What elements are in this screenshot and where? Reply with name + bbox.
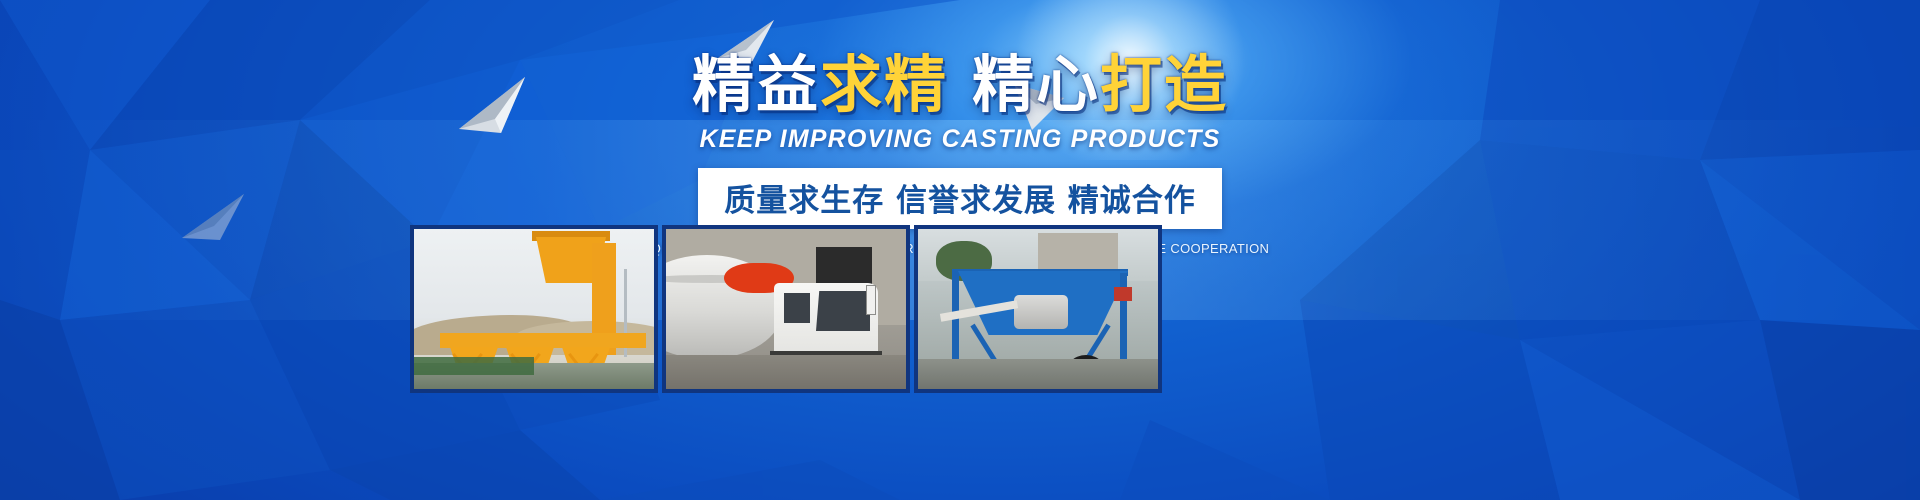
photo-strip xyxy=(410,225,1510,393)
headline: 精益求精精心打造 xyxy=(0,52,1920,119)
headline-segment-1: 精益 xyxy=(692,48,820,121)
promo-banner: 精益求精精心打造 KEEP IMPROVING CASTING PRODUCTS… xyxy=(0,0,1920,500)
photo-concrete-mixer-truck xyxy=(662,225,910,393)
slogan-banner: 质量求生存 信誉求发展 精诚合作 xyxy=(0,168,1920,229)
slogan-chinese: 质量求生存 信誉求发展 精诚合作 xyxy=(698,168,1222,229)
photo-blue-hopper-machine xyxy=(914,225,1162,393)
photo-concrete-batching-plant xyxy=(410,225,658,393)
subtitle-english: KEEP IMPROVING CASTING PRODUCTS xyxy=(0,125,1920,154)
banner-copy: 精益求精精心打造 KEEP IMPROVING CASTING PRODUCTS… xyxy=(0,0,1920,256)
headline-segment-3: 精心 xyxy=(972,48,1100,121)
headline-segment-4: 打造 xyxy=(1100,48,1228,121)
headline-segment-2: 求精 xyxy=(820,48,948,121)
